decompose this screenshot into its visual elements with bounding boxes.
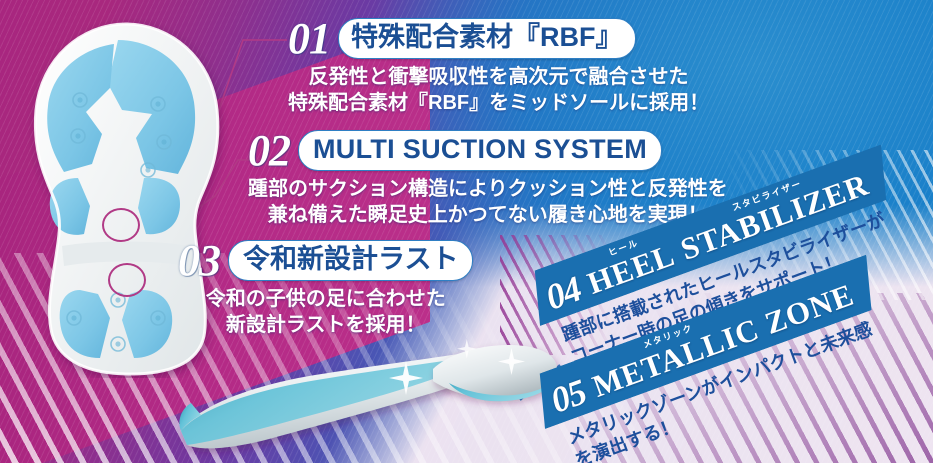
feature-05-number: 05: [547, 375, 590, 417]
feature-02-heading: 02 MULTI SUCTION SYSTEM: [248, 130, 728, 171]
feature-block-03: 03 令和新設計ラスト 令和の子供の足に合わせた 新設計ラストを採用！: [178, 240, 473, 339]
suction-callout-upper: [102, 208, 140, 242]
feature-01-number: 01: [288, 19, 330, 59]
feature-02-desc-line2: 兼ね備えた瞬足史上かつてない履き心地を実現！: [248, 202, 728, 228]
feature-03-desc-line1: 令和の子供の足に合わせた: [178, 286, 473, 312]
feature-01-desc-line2: 特殊配合素材『RBF』をミッドソールに採用！: [288, 90, 709, 116]
feature-03-number: 03: [178, 241, 220, 281]
feature-02-description: 踵部のサクション構造によりクッション性と反発性を 兼ね備えた瞬足史上かつてない履…: [248, 176, 728, 229]
feature-01-heading: 01 特殊配合素材『RBF』: [288, 18, 709, 59]
feature-02-label: MULTI SUCTION SYSTEM: [298, 130, 662, 171]
feature-03-label: 令和新設計ラスト: [228, 240, 473, 281]
feature-03-description: 令和の子供の足に合わせた 新設計ラストを採用！: [178, 286, 473, 339]
feature-03-desc-line2: 新設計ラストを採用！: [178, 312, 473, 338]
poster-canvas: 01 特殊配合素材『RBF』 反発性と衝撃吸収性を高次元で融合させた 特殊配合素…: [0, 0, 933, 463]
feature-01-desc-line1: 反発性と衝撃吸収性を高次元で融合させた: [288, 64, 709, 90]
feature-block-02: 02 MULTI SUCTION SYSTEM 踵部のサクション構造によりクッシ…: [248, 130, 728, 229]
feature-03-heading: 03 令和新設計ラスト: [178, 240, 473, 281]
suction-callout-lower: [108, 263, 146, 297]
feature-02-number: 02: [248, 131, 290, 171]
feature-01-label: 特殊配合素材『RBF』: [338, 18, 636, 59]
feature-block-01: 01 特殊配合素材『RBF』 反発性と衝撃吸収性を高次元で融合させた 特殊配合素…: [288, 18, 709, 117]
feature-01-description: 反発性と衝撃吸収性を高次元で融合させた 特殊配合素材『RBF』をミッドソールに採…: [288, 64, 709, 117]
midsole-side-view: [165, 335, 565, 460]
feature-04-number: 04: [542, 272, 585, 314]
feature-02-desc-line1: 踵部のサクション構造によりクッション性と反発性を: [248, 176, 728, 202]
